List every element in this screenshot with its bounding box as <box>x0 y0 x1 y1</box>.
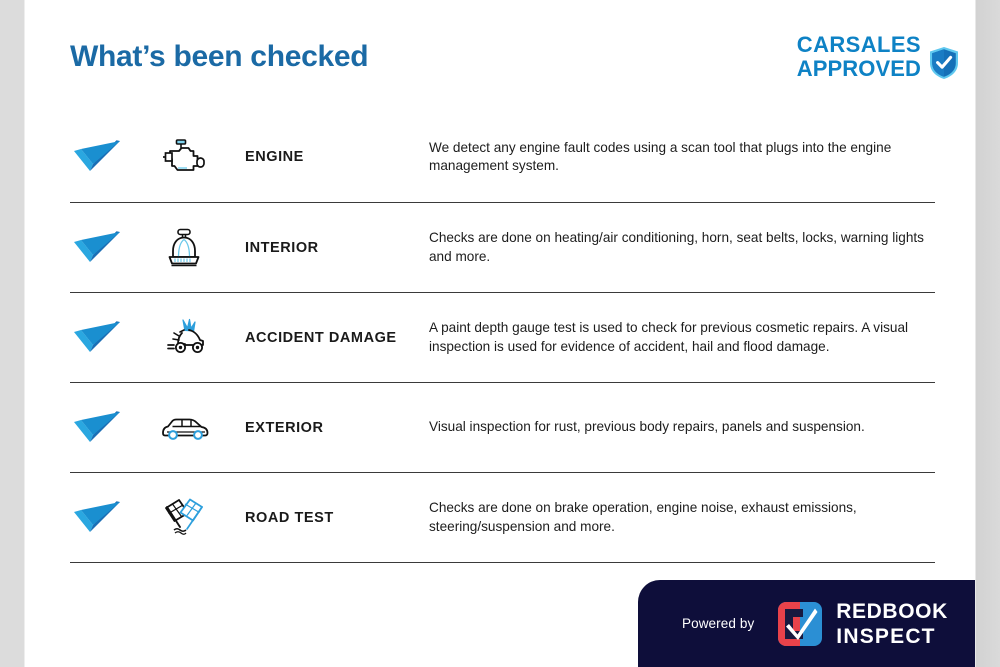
category-description: Visual inspection for rust, previous bod… <box>428 418 935 436</box>
brand-line-approved: APPROVED <box>797 57 921 81</box>
checklist-row: EXTERIOR Visual inspection for rust, pre… <box>70 382 935 472</box>
page-viewport: What’s been checked CARSALES APPROVED <box>0 0 1000 667</box>
category-description: Checks are done on heating/air condition… <box>428 229 935 265</box>
powered-by-banner: Powered by REDBOOK INSPECT <box>638 580 975 667</box>
category-label: ENGINE <box>223 149 428 165</box>
category-icon-cell <box>145 227 223 269</box>
blue-checkmark-icon <box>72 228 122 268</box>
category-label: EXTERIOR <box>223 420 428 436</box>
brand-line-carsales: CARSALES <box>797 33 921 57</box>
redbook-inspect-wordmark: REDBOOK INSPECT <box>836 601 948 647</box>
category-icon-cell <box>145 412 223 444</box>
page-title: What’s been checked <box>70 40 368 74</box>
category-icon-cell <box>145 496 223 540</box>
carsales-approved-logo: CARSALES APPROVED <box>797 33 960 81</box>
blue-checkmark-icon <box>72 408 122 448</box>
page-header: What’s been checked CARSALES APPROVED <box>25 0 975 112</box>
checklist-row: ROAD TEST Checks are done on brake opera… <box>70 472 935 562</box>
inspect-line: INSPECT <box>836 626 948 647</box>
category-description: We detect any engine fault codes using a… <box>428 139 935 175</box>
category-label: ROAD TEST <box>223 510 428 526</box>
category-label: ACCIDENT DAMAGE <box>223 330 428 346</box>
redbook-line: REDBOOK <box>836 601 948 622</box>
brand-wordmark: CARSALES APPROVED <box>797 33 921 81</box>
category-icon-cell <box>145 137 223 177</box>
category-label: INTERIOR <box>223 240 428 256</box>
blue-checkmark-icon <box>72 498 122 538</box>
check-cell <box>70 137 145 177</box>
crashed-car-icon <box>158 317 210 359</box>
check-cell <box>70 318 145 358</box>
checkered-flags-icon <box>161 496 207 540</box>
category-description: A paint depth gauge test is used to chec… <box>428 319 935 355</box>
category-icon-cell <box>145 317 223 359</box>
checklist-bottom-divider <box>70 562 935 563</box>
checklist-row: INTERIOR Checks are done on heating/air … <box>70 202 935 292</box>
inspection-checklist: ENGINE We detect any engine fault codes … <box>70 112 935 562</box>
checklist-row: ENGINE We detect any engine fault codes … <box>70 112 935 202</box>
category-description: Checks are done on brake operation, engi… <box>428 499 935 535</box>
blue-checkmark-icon <box>72 318 122 358</box>
document-sheet: What’s been checked CARSALES APPROVED <box>25 0 975 667</box>
check-cell <box>70 408 145 448</box>
checklist-row: ACCIDENT DAMAGE A paint depth gauge test… <box>70 292 935 382</box>
powered-by-label: Powered by <box>682 616 754 631</box>
shield-check-icon <box>928 46 960 80</box>
blue-checkmark-icon <box>72 137 122 177</box>
redbook-check-logo-icon <box>776 600 824 648</box>
engine-icon <box>161 137 207 177</box>
car-seat-icon <box>164 227 204 269</box>
check-cell <box>70 498 145 538</box>
check-cell <box>70 228 145 268</box>
car-side-icon <box>157 412 211 444</box>
